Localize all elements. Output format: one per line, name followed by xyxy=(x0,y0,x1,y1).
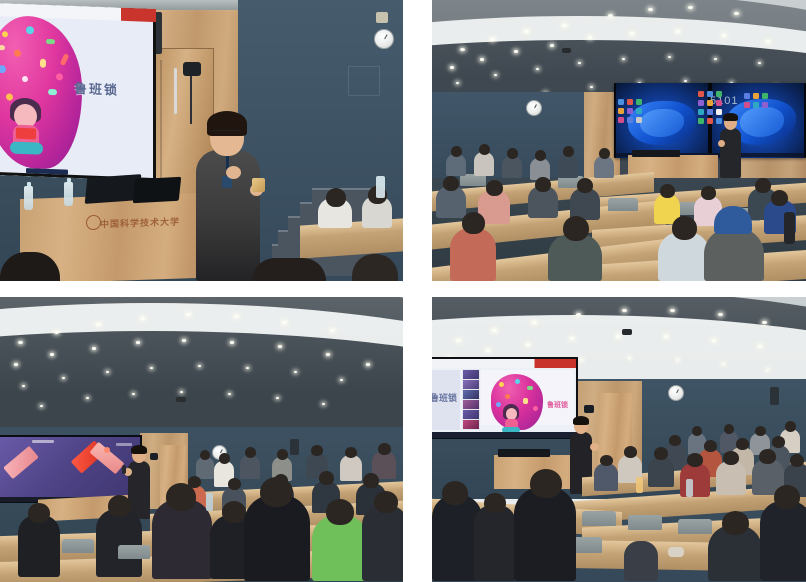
presenter-hair xyxy=(723,113,738,121)
projection-screen[interactable]: 鲁班锁 xyxy=(432,357,578,439)
audience-person xyxy=(680,463,710,497)
podium-monitor-icon xyxy=(498,449,550,457)
audience-person xyxy=(18,515,60,577)
water-bottle xyxy=(24,186,33,210)
audience-person xyxy=(760,501,806,581)
audience-head xyxy=(326,188,346,207)
audience-person xyxy=(716,461,746,495)
slide-thumbnail[interactable] xyxy=(463,380,479,389)
presenter-hand xyxy=(590,443,599,451)
camera-icon xyxy=(584,405,594,413)
presenter-hair xyxy=(573,416,589,425)
water-bottle xyxy=(686,479,693,497)
slide-thumbnail[interactable] xyxy=(463,400,479,409)
audience-person xyxy=(244,495,310,581)
ceiling-sheen xyxy=(432,0,806,78)
screen-taskbar[interactable] xyxy=(26,168,68,175)
audience-person xyxy=(502,156,522,178)
audience-person xyxy=(340,455,362,481)
water-bottle xyxy=(64,182,73,206)
projection-screen[interactable]: 鲁班锁 xyxy=(0,3,156,181)
speaker-icon xyxy=(290,439,299,455)
desktop-icon-grid[interactable] xyxy=(744,93,768,108)
audience-person xyxy=(196,457,214,479)
projection-screen[interactable] xyxy=(0,435,142,503)
led-video-wall[interactable]: 5101 xyxy=(614,83,806,158)
audience-person xyxy=(96,509,142,577)
slide-content xyxy=(0,437,140,497)
thermos-icon xyxy=(784,212,795,244)
audience-person xyxy=(446,154,466,176)
camera-icon xyxy=(183,62,201,76)
wall-clock xyxy=(374,29,394,49)
podium-monitor-icon xyxy=(632,150,680,157)
wall-access-panel xyxy=(348,66,380,96)
slide-thumbnail[interactable] xyxy=(463,370,479,379)
audience-person xyxy=(624,541,658,581)
slide-girl-legs xyxy=(10,141,43,154)
slide-thumbnail[interactable] xyxy=(463,420,479,429)
water-bottle xyxy=(376,176,385,198)
camera-pole xyxy=(190,76,192,124)
slide-caption xyxy=(116,443,132,446)
slide-book-icon xyxy=(16,128,36,140)
podium-logo-text xyxy=(638,163,680,167)
photo-bottom-left[interactable] xyxy=(0,297,403,582)
podium-logo-text: 中国科学技术大学 xyxy=(100,215,180,231)
audience-person xyxy=(548,234,602,281)
powerpoint-window[interactable]: 鲁班锁 xyxy=(432,359,576,432)
audience-person xyxy=(450,228,496,281)
cap-icon xyxy=(714,206,752,234)
photo-top-left[interactable]: 鲁班锁 中国科学技术大学 xyxy=(0,0,403,281)
desktop-icon-grid[interactable] xyxy=(698,91,722,124)
audience-person xyxy=(474,152,494,176)
projector-icon xyxy=(562,48,571,53)
door-handle xyxy=(174,68,177,114)
audience-person xyxy=(704,228,764,281)
photo-top-right[interactable]: 5101 xyxy=(432,0,806,281)
wall-sensor-icon xyxy=(376,12,388,23)
audience-person xyxy=(594,156,614,178)
glasses-icon xyxy=(211,130,242,137)
projector-icon xyxy=(176,397,186,402)
audience-person xyxy=(152,499,212,579)
camera-icon xyxy=(150,453,158,460)
photo-collage: 鲁班锁 中国科学技术大学 xyxy=(0,0,806,582)
monitor-icon xyxy=(133,177,182,203)
luban-lock-prop xyxy=(252,178,265,192)
audience-person xyxy=(474,505,516,581)
photo-bottom-right[interactable]: 鲁班锁 xyxy=(432,297,806,582)
taskbar[interactable] xyxy=(432,432,576,438)
speaker-icon xyxy=(770,387,779,405)
wall-clock xyxy=(668,385,684,401)
slide-title-text: 鲁班锁 xyxy=(74,78,119,99)
ppt-left-title-text: 鲁班锁 xyxy=(432,391,457,404)
wall-clock xyxy=(526,100,542,116)
presenter-hair xyxy=(131,445,147,454)
projector-icon xyxy=(622,329,632,335)
audience-person xyxy=(362,505,403,581)
ppt-slide-title-text: 鲁班锁 xyxy=(547,400,568,410)
audience-person xyxy=(648,457,674,487)
slide-thumbnail-strip[interactable] xyxy=(462,369,480,430)
shoe-icon xyxy=(668,547,684,557)
presenter-hand xyxy=(226,166,241,179)
presenter-hand xyxy=(718,140,725,147)
ppt-ribbon-bar[interactable] xyxy=(432,359,576,368)
water-bottle xyxy=(206,493,213,511)
desktop-icon-grid[interactable] xyxy=(618,99,642,123)
slide-caption xyxy=(32,440,54,443)
audience-person xyxy=(514,487,576,581)
microphone-icon xyxy=(122,465,126,474)
audience-person xyxy=(240,455,260,479)
water-bottle xyxy=(636,477,643,493)
audience-person xyxy=(558,154,578,178)
audience-person xyxy=(594,463,618,491)
slide-thumbnail[interactable] xyxy=(463,410,479,419)
slide-thumbnail[interactable] xyxy=(463,390,479,399)
foreground-head xyxy=(252,258,326,281)
ppt-slide-stage[interactable]: 鲁班锁 xyxy=(481,370,574,425)
presenter-body xyxy=(720,128,741,178)
